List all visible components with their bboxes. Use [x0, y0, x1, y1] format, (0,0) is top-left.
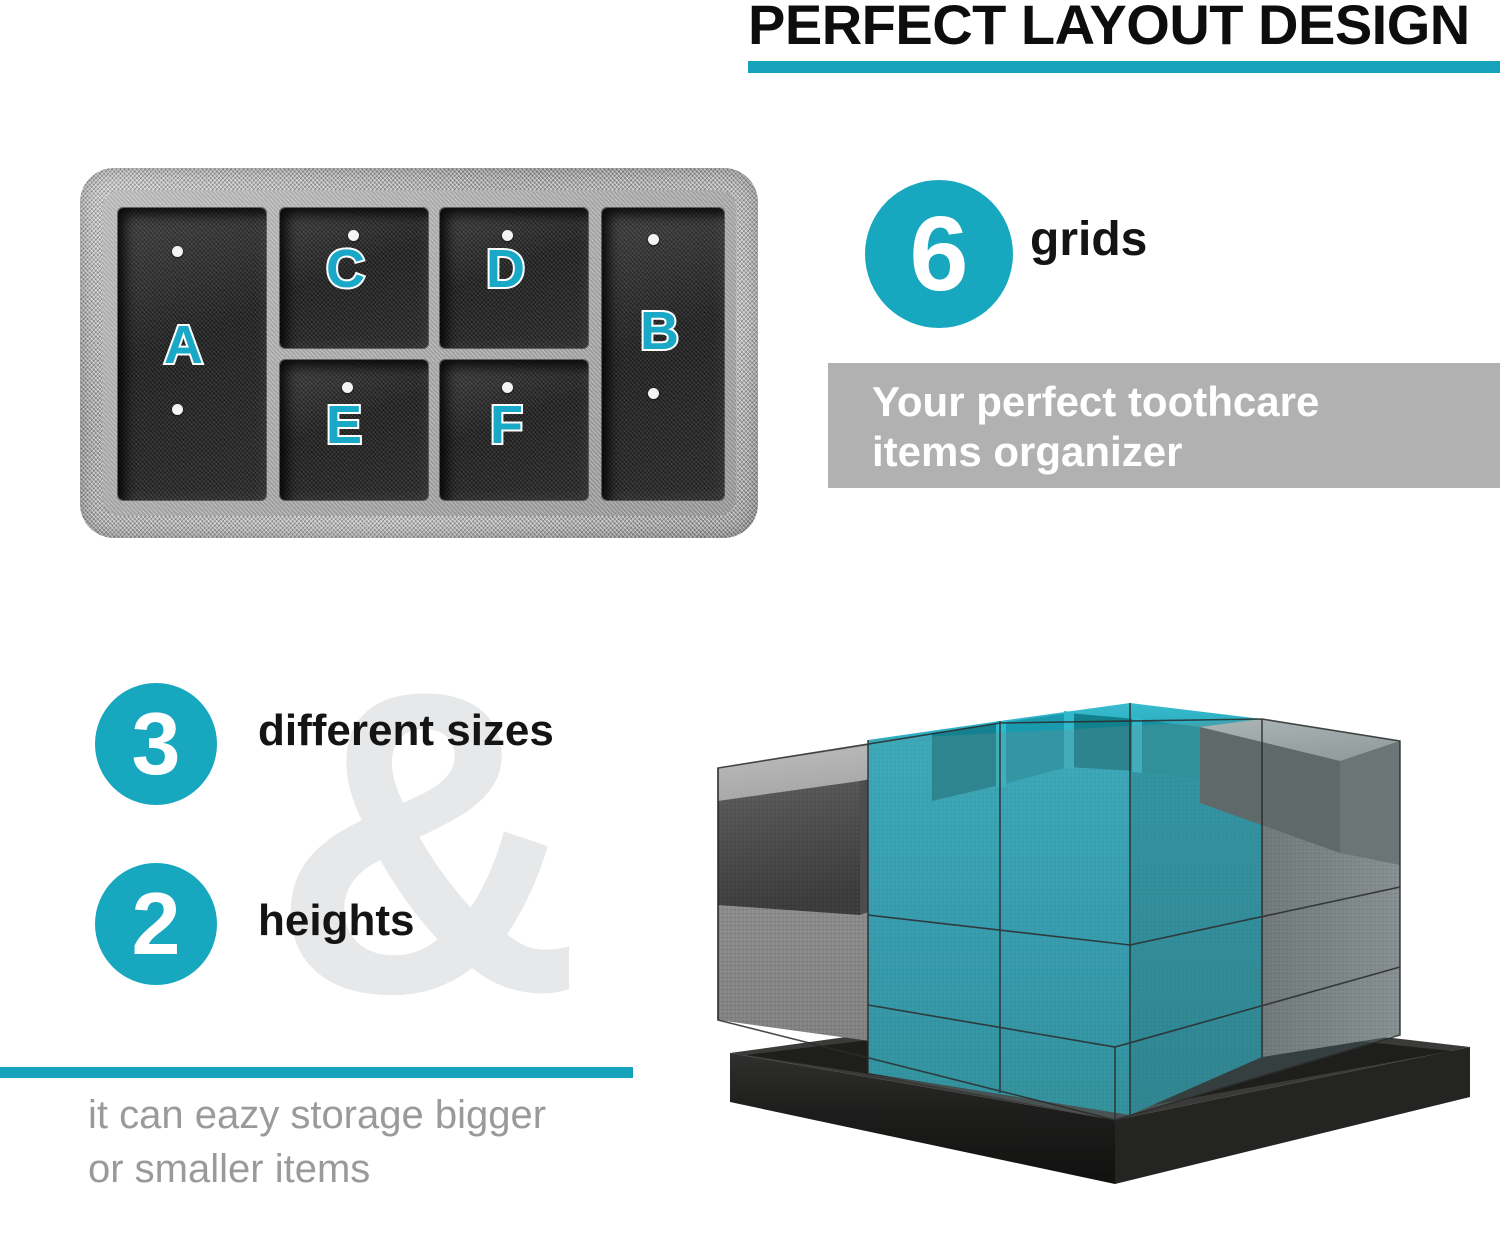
compartment-label-a: A [164, 318, 203, 372]
compartment-f: F [440, 360, 588, 500]
compartment-a: A [118, 208, 266, 500]
compartment-c: C [280, 208, 428, 348]
stat-circle-grids: 6 [865, 180, 1013, 328]
compartment-label-c: C [326, 242, 365, 296]
footer-note: it can eazy storage bigger or smaller it… [88, 1088, 648, 1196]
page-title: PERFECT LAYOUT DESIGN [748, 0, 1500, 54]
stat-label-sizes: different sizes [258, 706, 554, 756]
compartment-dot [342, 382, 353, 393]
compartment-dot [648, 234, 659, 245]
ampersand-watermark: & [272, 628, 583, 1058]
compartment-label-f: F [490, 398, 523, 452]
compartment-e: E [280, 360, 428, 500]
title-underline-rule [748, 61, 1500, 73]
tagline-banner: Your perfect toothcare items organizer [828, 363, 1500, 488]
organizer-perspective-illustration [700, 615, 1500, 1233]
stat-circle-sizes: 3 [95, 683, 217, 805]
compartment-dot [172, 246, 183, 257]
stat-circle-heights: 2 [95, 863, 217, 985]
compartment-dot [172, 404, 183, 415]
compartment-label-d: D [486, 242, 525, 296]
stat-label-heights: heights [258, 896, 414, 946]
compartment-dot [502, 382, 513, 393]
footer-rule [0, 1067, 633, 1078]
tagline-text: Your perfect toothcare items organizer [872, 377, 1500, 477]
infographic-page: PERFECT LAYOUT DESIGN A C D E F B [0, 0, 1500, 1233]
organizer-top-view-illustration: A C D E F B [80, 168, 758, 538]
compartment-label-b: B [640, 304, 679, 358]
compartment-dot [648, 388, 659, 399]
compartment-b: B [602, 208, 724, 500]
compartment-label-e: E [326, 398, 362, 452]
compartment-d: D [440, 208, 588, 348]
stat-label-grids: grids [1030, 212, 1147, 267]
